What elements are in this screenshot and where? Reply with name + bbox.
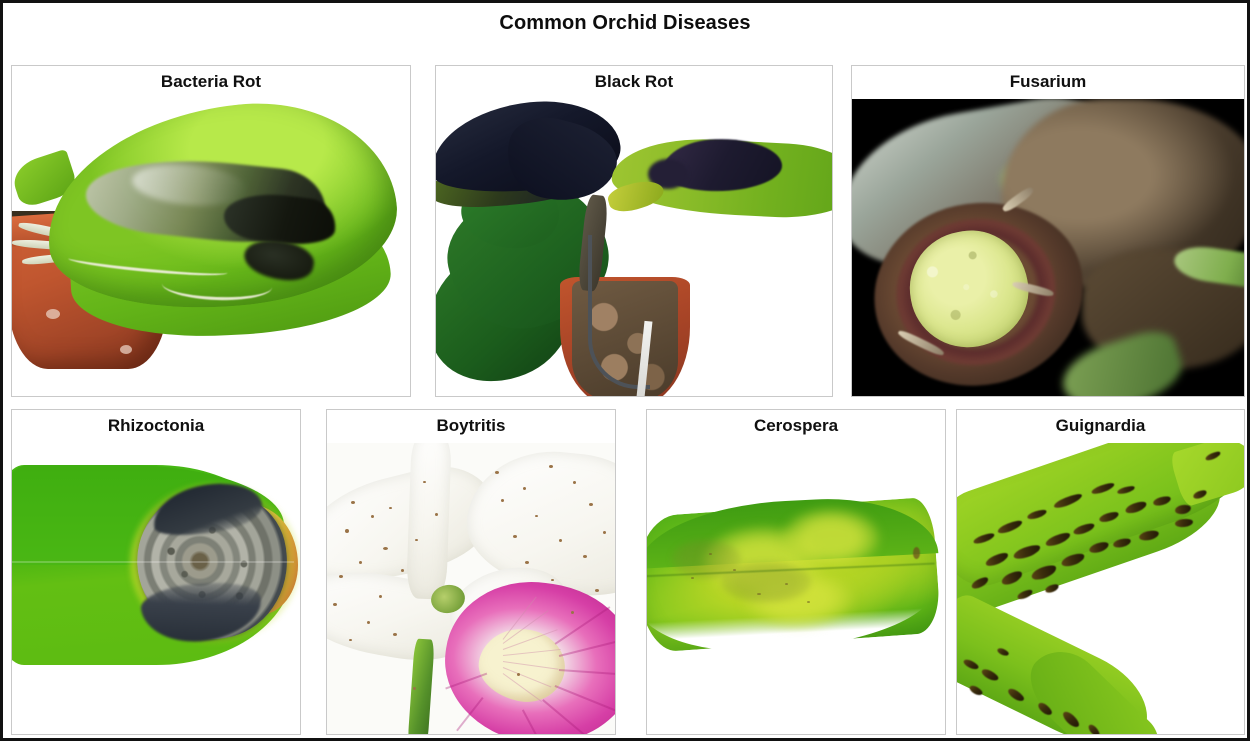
botrytis-spot <box>371 515 374 518</box>
botrytis-spot <box>389 507 392 509</box>
botrytis-spot <box>549 465 553 468</box>
panel-bacteria-rot[interactable]: Bacteria Rot <box>11 65 411 397</box>
botrytis-spot <box>333 603 337 606</box>
leaf-speck <box>785 583 788 585</box>
botrytis-spot <box>595 589 599 592</box>
botrytis-spot <box>339 575 343 578</box>
botrytis-spot <box>367 621 370 624</box>
photo-guignardia <box>957 443 1244 734</box>
botrytis-spot <box>517 673 520 676</box>
botrytis-spot <box>413 687 416 690</box>
leaf-speck <box>691 577 694 579</box>
panel-label-black-rot: Black Rot <box>436 72 832 92</box>
botrytis-spot <box>501 499 504 502</box>
petal-upper <box>406 443 452 600</box>
photo-bacteria-rot <box>12 99 410 396</box>
panel-label-guignardia: Guignardia <box>957 416 1244 436</box>
panel-rhizoctonia[interactable]: Rhizoctonia <box>11 409 301 735</box>
panel-label-cerospera: Cerospera <box>647 416 945 436</box>
photo-cerospera <box>647 443 945 734</box>
leaf-speck <box>709 553 712 555</box>
botrytis-spot <box>589 503 593 506</box>
photo-boytritis <box>327 443 615 734</box>
botrytis-spot <box>513 535 517 538</box>
panel-black-rot[interactable]: Black Rot <box>435 65 833 397</box>
chlorotic-patch <box>783 509 879 567</box>
pot-speck <box>120 345 132 354</box>
botrytis-spot <box>379 595 382 598</box>
botrytis-spot <box>345 529 349 533</box>
pot-speck <box>46 309 60 319</box>
panel-cerospera[interactable]: Cerospera <box>646 409 946 735</box>
panel-fusarium[interactable]: Fusarium <box>851 65 1245 397</box>
botrytis-spot <box>603 531 606 534</box>
botrytis-spot <box>523 487 526 490</box>
botrytis-spot <box>401 569 404 572</box>
panel-boytritis[interactable]: Boytritis <box>326 409 616 735</box>
panel-label-boytritis: Boytritis <box>327 416 615 436</box>
leaf-speck <box>733 569 736 571</box>
panel-guignardia[interactable]: Guignardia <box>956 409 1245 735</box>
botrytis-spot <box>495 471 499 474</box>
leaf-speck <box>807 601 810 603</box>
botrytis-spot <box>383 547 388 550</box>
botrytis-spot <box>583 555 587 558</box>
botrytis-spot <box>415 539 418 541</box>
botrytis-spot <box>349 639 352 641</box>
botrytis-spot <box>359 561 362 564</box>
figure-frame: Common Orchid Diseases Bacteria Rot <box>0 0 1250 741</box>
botrytis-spot <box>571 611 574 614</box>
exposure-seam <box>12 561 294 563</box>
photo-rhizoctonia <box>12 443 300 734</box>
panel-label-rhizoctonia: Rhizoctonia <box>12 416 300 436</box>
panel-label-fusarium: Fusarium <box>852 72 1244 92</box>
leaf-lesion-small <box>913 547 920 559</box>
figure-title: Common Orchid Diseases <box>3 12 1247 35</box>
botrytis-spot <box>351 501 355 504</box>
botrytis-spot <box>525 561 529 564</box>
botrytis-spot <box>559 539 562 542</box>
botrytis-spot <box>573 481 576 484</box>
botrytis-spot <box>393 633 397 636</box>
photo-fusarium <box>852 99 1244 396</box>
botrytis-spot <box>535 515 538 517</box>
photo-black-rot <box>436 99 832 396</box>
panel-label-bacteria-rot: Bacteria Rot <box>12 72 410 92</box>
botrytis-spot <box>551 579 554 581</box>
botrytis-spot <box>423 481 426 483</box>
leaf-speck <box>757 593 761 595</box>
botrytis-spot <box>435 513 438 516</box>
